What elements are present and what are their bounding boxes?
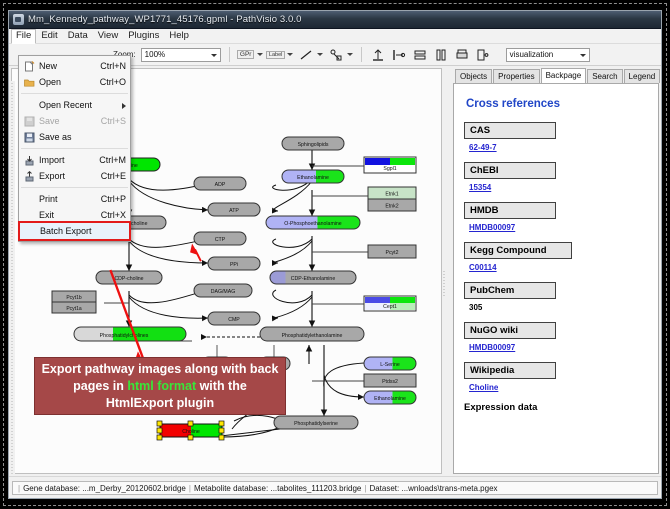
svg-text:Pcyt1a: Pcyt1a <box>66 306 82 312</box>
tab-objects[interactable]: Objects <box>455 69 492 83</box>
menu-item-open-accel: Ctrl+O <box>100 77 130 87</box>
svg-text:Phosphatidylethanolamine: Phosphatidylethanolamine <box>282 333 343 339</box>
menu-help[interactable]: Help <box>164 29 194 43</box>
svg-text:Sgpl1: Sgpl1 <box>383 166 396 172</box>
svg-text:Etnk2: Etnk2 <box>385 204 398 210</box>
annotation-line2-pre: pages in <box>73 379 127 393</box>
menu-file[interactable]: File <box>11 29 36 44</box>
tab-backpage[interactable]: Backpage <box>541 68 587 83</box>
menu-item-batch-export-label: Batch Export <box>40 226 129 236</box>
menu-item-exit[interactable]: Exit Ctrl+X <box>19 207 130 223</box>
chevron-down-icon[interactable] <box>317 53 323 56</box>
menu-item-open-recent[interactable]: Open Recent <box>19 97 130 113</box>
menu-item-export[interactable]: Export Ctrl+E <box>19 168 130 184</box>
svg-text:Pcyt1b: Pcyt1b <box>66 295 82 301</box>
zoom-select[interactable]: 100% <box>141 48 221 62</box>
side-panel: Objects Properties Backpage Search Legen… <box>447 68 659 474</box>
selected-metabolite-choline: Choline <box>157 421 224 440</box>
menu-divider <box>21 148 128 149</box>
svg-text:Ethanolamine: Ethanolamine <box>374 396 406 402</box>
svg-text:CDP-Ethanolamine: CDP-Ethanolamine <box>291 276 336 282</box>
svg-text:Sphingolipids: Sphingolipids <box>298 142 329 148</box>
pathvisio-window: Mm_Kennedy_pathway_WP1771_45176.gpml - P… <box>8 10 662 499</box>
svg-text:CMP: CMP <box>228 317 240 323</box>
export-icon <box>19 171 39 182</box>
bring-front-tool[interactable] <box>475 47 491 63</box>
save-as-disk-icon <box>19 132 39 143</box>
xref-link-nugo[interactable]: HMDB00097 <box>469 343 515 352</box>
annotation-line3: HtmlExport plugin <box>106 396 214 410</box>
tab-properties[interactable]: Properties <box>493 69 539 83</box>
menu-item-save: Save Ctrl+S <box>19 113 130 129</box>
xref-header-chebi: ChEBI <box>464 162 556 179</box>
menu-item-export-label: Export <box>39 171 101 181</box>
folder-open-icon <box>19 77 39 88</box>
annotation-callout: Export pathway images along with back pa… <box>34 357 286 415</box>
chevron-right-icon <box>122 103 126 109</box>
xref-link-kegg[interactable]: C00114 <box>469 263 497 272</box>
chevron-down-icon <box>580 54 586 57</box>
menu-data[interactable]: Data <box>63 29 93 43</box>
tab-legend[interactable]: Legend <box>624 69 661 83</box>
xref-header-pubchem: PubChem <box>464 282 556 299</box>
expression-data-title: Expression data <box>464 402 648 413</box>
xref-link-cas[interactable]: 62-49-7 <box>469 143 497 152</box>
menu-item-print-label: Print <box>39 194 101 204</box>
menu-item-batch-export[interactable]: Batch Export <box>20 223 129 239</box>
align-top-tool[interactable] <box>370 47 386 63</box>
annotation-line1: Export pathway images along with back <box>42 362 279 376</box>
svg-text:CTP: CTP <box>215 237 226 243</box>
status-dataset-label: Dataset: <box>369 484 399 493</box>
menu-divider <box>21 93 128 94</box>
menu-item-new-accel: Ctrl+N <box>100 61 130 71</box>
menu-item-open-label: Open <box>39 77 100 87</box>
menu-item-save-accel: Ctrl+S <box>101 116 130 126</box>
same-height-tool[interactable] <box>412 47 428 63</box>
status-gene-db-value: ...m_Derby_20120602.bridge <box>82 484 186 493</box>
svg-text:DAG/MAG: DAG/MAG <box>211 289 236 295</box>
toolbar-divider <box>229 47 230 62</box>
menu-item-open-recent-label: Open Recent <box>39 100 130 110</box>
menu-bar: File Edit Data View Plugins Help <box>9 29 661 44</box>
side-panel-tabs: Objects Properties Backpage Search Legen… <box>447 68 659 83</box>
menu-item-save-as-label: Save as <box>39 132 126 142</box>
chevron-down-icon[interactable] <box>287 53 293 56</box>
file-menu-dropdown[interactable]: New Ctrl+N Open Ctrl+O Open Recent <box>18 55 131 242</box>
label-tool-label: Label <box>266 51 285 59</box>
menu-item-new[interactable]: New Ctrl+N <box>19 58 130 74</box>
menu-item-export-accel: Ctrl+E <box>101 171 130 181</box>
status-dataset-value: ...wnloads\trans-meta.pgex <box>401 484 497 493</box>
svg-text:O-Phosphoethanolamine: O-Phosphoethanolamine <box>284 221 342 227</box>
annotation-line2-highlight: html format <box>127 379 196 393</box>
menu-item-import-label: Import <box>39 155 99 165</box>
menu-item-save-label: Save <box>39 116 101 126</box>
svg-text:CDP-choline: CDP-choline <box>114 276 143 282</box>
annotation-line2-post: with the <box>196 379 247 393</box>
xref-header-hmdb: HMDB <box>464 202 556 219</box>
screenshot-root: Mm_Kennedy_pathway_WP1771_45176.gpml - P… <box>0 0 670 509</box>
pathvisio-app-icon <box>13 14 24 25</box>
menu-plugins[interactable]: Plugins <box>123 29 164 43</box>
svg-text:Cept1: Cept1 <box>383 304 397 310</box>
svg-text:ADP: ADP <box>215 182 226 188</box>
gene-product-tool[interactable]: GPr <box>238 47 254 63</box>
status-gene-db-label: Gene database: <box>23 484 80 493</box>
svg-text:Ethanolamine: Ethanolamine <box>297 175 329 181</box>
title-bar: Mm_Kennedy_pathway_WP1771_45176.gpml - P… <box>9 11 661 29</box>
xref-header-wikipedia: Wikipedia <box>464 362 556 379</box>
menu-item-print-accel: Ctrl+P <box>101 194 130 204</box>
same-width-tool[interactable] <box>433 47 449 63</box>
save-disk-icon <box>19 116 39 127</box>
svg-text:Pcyt2: Pcyt2 <box>386 250 399 256</box>
line-tool[interactable] <box>298 47 314 63</box>
menu-item-open[interactable]: Open Ctrl+O <box>19 74 130 90</box>
status-metabolite-db-value: ...tabolites_111203.bridge <box>270 484 361 493</box>
label-tool[interactable]: Label <box>268 47 284 63</box>
visualization-value: visualization <box>510 50 554 59</box>
xref-value-kegg[interactable]: C00114 <box>469 263 648 272</box>
svg-text:Choline: Choline <box>182 429 200 435</box>
xref-link-wikipedia[interactable]: Choline <box>469 383 498 392</box>
xref-value-wikipedia[interactable]: Choline <box>469 383 648 392</box>
tab-search[interactable]: Search <box>587 69 622 83</box>
panel-splitter[interactable] <box>442 66 447 476</box>
svg-text:L-Serine: L-Serine <box>380 362 400 368</box>
chevron-down-icon <box>211 54 217 57</box>
gene-product-label: GPr <box>237 50 255 59</box>
svg-text:PPi: PPi <box>230 262 238 268</box>
align-left-tool[interactable] <box>391 47 407 63</box>
menu-item-save-as[interactable]: Save as <box>19 129 130 145</box>
xref-header-cas: CAS <box>464 122 556 139</box>
xref-value-nugo[interactable]: HMDB00097 <box>469 343 648 352</box>
menu-edit[interactable]: Edit <box>36 29 62 43</box>
backpage-scroll[interactable]: Cross references CAS 62-49-7 ChEBI 15354… <box>454 84 658 473</box>
menu-item-exit-label: Exit <box>39 210 101 220</box>
chevron-down-icon[interactable] <box>347 53 353 56</box>
toolbar-divider <box>361 47 362 62</box>
print-tool[interactable] <box>454 47 470 63</box>
svg-text:Phosphatidylserine: Phosphatidylserine <box>294 421 338 427</box>
zoom-value: 100% <box>145 50 165 59</box>
menu-item-print[interactable]: Print Ctrl+P <box>19 191 130 207</box>
import-icon <box>19 155 39 166</box>
svg-text:Ptdss2: Ptdss2 <box>382 379 398 385</box>
side-panel-drag-handle[interactable] <box>9 81 15 476</box>
svg-text:Etnk1: Etnk1 <box>385 192 398 198</box>
status-metabolite-db-label: Metabolite database: <box>194 484 268 493</box>
menu-item-import-accel: Ctrl+M <box>99 155 130 165</box>
xref-value-hmdb[interactable]: HMDB00097 <box>469 223 648 232</box>
menu-item-import[interactable]: Import Ctrl+M <box>19 152 130 168</box>
chevron-down-icon[interactable] <box>257 53 263 56</box>
status-bar: | Gene database: ...m_Derby_20120602.bri… <box>9 476 661 498</box>
menu-item-exit-accel: Ctrl+X <box>101 210 130 220</box>
visualization-select[interactable]: visualization <box>506 48 590 62</box>
xref-value-cas[interactable]: 62-49-7 <box>469 143 648 152</box>
menu-view[interactable]: View <box>93 29 123 43</box>
xref-header-nugo: NuGO wiki <box>464 322 556 339</box>
svg-text:Phosphatidylcholines: Phosphatidylcholines <box>100 333 149 339</box>
menu-divider <box>21 187 128 188</box>
backpage-content: Cross references CAS 62-49-7 ChEBI 15354… <box>453 83 659 474</box>
xref-header-kegg: Kegg Compound <box>464 242 572 259</box>
xref-link-chebi[interactable]: 15354 <box>469 183 491 192</box>
cross-references-title: Cross references <box>466 98 648 110</box>
xref-value-pubchem: 305 <box>469 303 648 312</box>
window-title: Mm_Kennedy_pathway_WP1771_45176.gpml - P… <box>28 14 302 25</box>
interaction-tool[interactable] <box>328 47 344 63</box>
xref-value-chebi[interactable]: 15354 <box>469 183 648 192</box>
xref-link-hmdb[interactable]: HMDB00097 <box>469 223 515 232</box>
status-bar-text: | Gene database: ...m_Derby_20120602.bri… <box>12 481 658 495</box>
menu-item-new-label: New <box>39 61 100 71</box>
svg-text:ATP: ATP <box>229 208 239 214</box>
new-document-icon <box>19 61 39 72</box>
